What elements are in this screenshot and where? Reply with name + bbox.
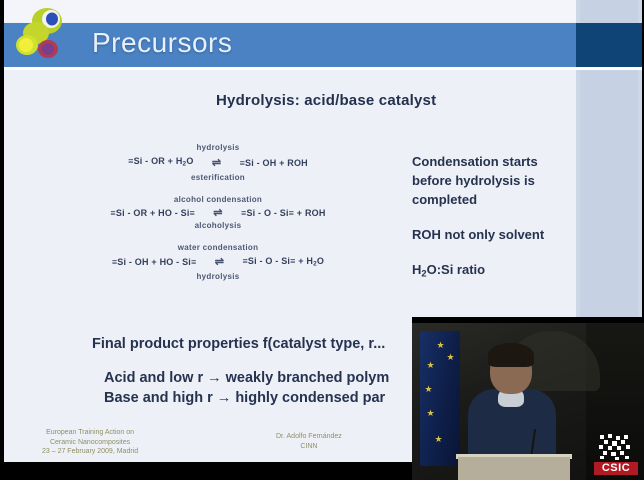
equation-left: ≡Si - OH + HO - Si≡ bbox=[112, 255, 197, 269]
presenter-video-overlay[interactable]: ★ ★ ★ ★ ★ ★ bbox=[412, 317, 644, 480]
footer-author-info: Dr. Adolfo FernándezCINN bbox=[276, 432, 342, 451]
equation-body: ≡Si - OR + HO - Si≡ ⇌ ≡Si - O - Si≡ + RO… bbox=[68, 206, 368, 220]
final-product-line: Final product properties f(catalyst type… bbox=[92, 336, 385, 352]
equation-label-bottom: esterification bbox=[68, 172, 368, 184]
flag-star-icon: ★ bbox=[436, 341, 445, 350]
equation-row: water condensation ≡Si - OH + HO - Si≡ ⇌… bbox=[68, 242, 368, 284]
csic-mark-icon bbox=[598, 433, 634, 461]
equation-right: ≡Si - OH + ROH bbox=[240, 156, 308, 170]
equation-right: ≡Si - O - Si≡ + H2O bbox=[242, 254, 324, 272]
side-note: Condensation starts before hydrolysis is… bbox=[412, 152, 580, 209]
screen: Precursors Hydrolysis: acid/base catalys… bbox=[0, 0, 644, 480]
side-notes-list: Condensation starts before hydrolysis is… bbox=[412, 152, 580, 299]
side-note: H2O:Si ratio bbox=[412, 260, 580, 283]
equilibrium-arrow-icon: ⇌ bbox=[196, 255, 242, 269]
equation-label-top: hydrolysis bbox=[68, 142, 368, 154]
equation-left: ≡Si - OR + HO - Si≡ bbox=[110, 206, 195, 220]
flag-star-icon: ★ bbox=[434, 435, 443, 444]
equation-row: hydrolysis ≡Si - OR + H2O ⇌ ≡Si - OH + R… bbox=[68, 142, 368, 184]
equation-label-top: alcohol condensation bbox=[68, 194, 368, 206]
equation-right: ≡Si - O - Si≡ + ROH bbox=[241, 206, 326, 220]
base-catalyst-line: Base and high r → highly condensed par bbox=[104, 390, 385, 406]
equation-body: ≡Si - OH + HO - Si≡ ⇌ ≡Si - O - Si≡ + H2… bbox=[68, 254, 368, 272]
side-note: ROH not only solvent bbox=[412, 225, 580, 244]
footer-event-info: European Training Action onCeramic Nanoc… bbox=[42, 428, 138, 457]
acid-catalyst-line: Acid and low r → weakly branched polym bbox=[104, 370, 389, 386]
equilibrium-arrow-icon: ⇌ bbox=[195, 206, 241, 220]
molecule-cluster-logo-icon bbox=[12, 4, 70, 62]
equation-body: ≡Si - OR + H2O ⇌ ≡Si - OH + ROH bbox=[68, 154, 368, 172]
presenter-hair bbox=[488, 343, 534, 367]
equation-left: ≡Si - OR + H2O bbox=[128, 154, 193, 172]
equation-list: hydrolysis ≡Si - OR + H2O ⇌ ≡Si - OH + R… bbox=[68, 142, 368, 293]
equation-label-bottom: alcoholysis bbox=[68, 220, 368, 232]
equation-label-top: water condensation bbox=[68, 242, 368, 254]
flag-star-icon: ★ bbox=[426, 361, 435, 370]
csic-logo-text: CSIC bbox=[594, 462, 638, 475]
slide-title-band-accent bbox=[576, 23, 642, 67]
page-title: Precursors bbox=[92, 27, 232, 59]
equilibrium-arrow-icon: ⇌ bbox=[194, 156, 240, 170]
flag-star-icon: ★ bbox=[426, 409, 435, 418]
flag-star-icon: ★ bbox=[424, 385, 433, 394]
slide-title-underline bbox=[4, 67, 642, 70]
podium bbox=[458, 457, 570, 480]
equation-label-bottom: hydrolysis bbox=[68, 271, 368, 283]
flag-star-icon: ★ bbox=[446, 353, 455, 362]
csic-logo: CSIC bbox=[594, 433, 638, 477]
slide-top-strip bbox=[4, 0, 642, 22]
equation-row: alcohol condensation ≡Si - OR + HO - Si≡… bbox=[68, 194, 368, 232]
hydrolysis-heading: Hydrolysis: acid/base catalyst bbox=[216, 92, 436, 109]
